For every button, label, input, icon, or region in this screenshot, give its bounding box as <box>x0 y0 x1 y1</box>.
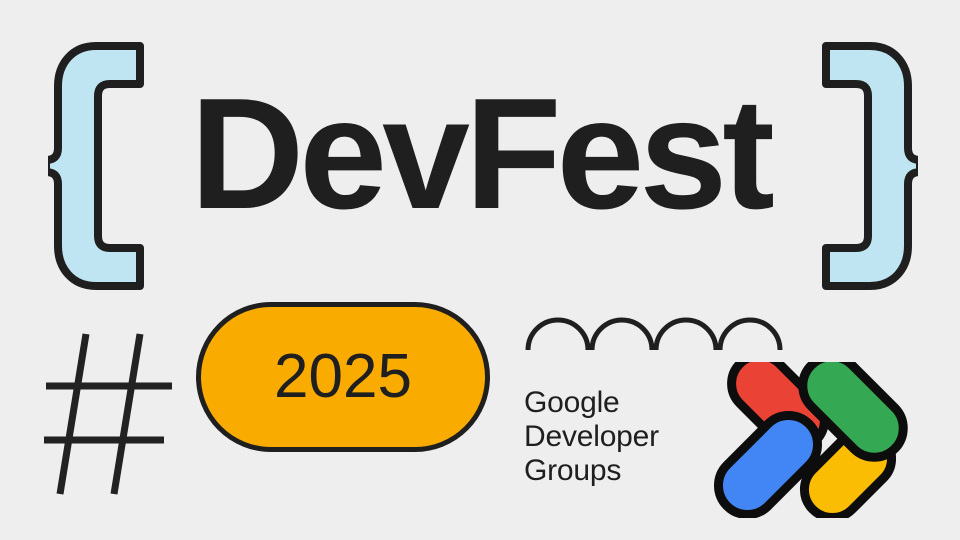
hashtag-icon <box>44 328 176 500</box>
gdg-wordmark: Google Developer Groups <box>524 386 659 488</box>
hashtag-stroke-slash-2 <box>114 334 140 494</box>
year-badge-label: 2025 <box>274 346 412 408</box>
year-badge: 2025 <box>196 302 490 452</box>
scallop-arch-2 <box>592 320 652 350</box>
scallop-arch-1 <box>528 320 588 350</box>
gdg-wordmark-line-2: Developer <box>524 420 659 454</box>
gdg-logo-icon <box>700 362 920 518</box>
scallop-arch-decoration <box>524 296 788 352</box>
devfest-key-art: DevFest 2025 Google D <box>0 0 960 540</box>
scallop-arch-3 <box>656 320 716 350</box>
scallop-arch-4 <box>720 320 780 350</box>
gdg-lockup: Google Developer Groups <box>524 386 924 516</box>
gdg-wordmark-line-1: Google <box>524 386 659 420</box>
devfest-wordmark: DevFest <box>0 70 960 238</box>
gdg-wordmark-line-3: Groups <box>524 454 659 488</box>
hashtag-stroke-slash-1 <box>60 334 86 494</box>
